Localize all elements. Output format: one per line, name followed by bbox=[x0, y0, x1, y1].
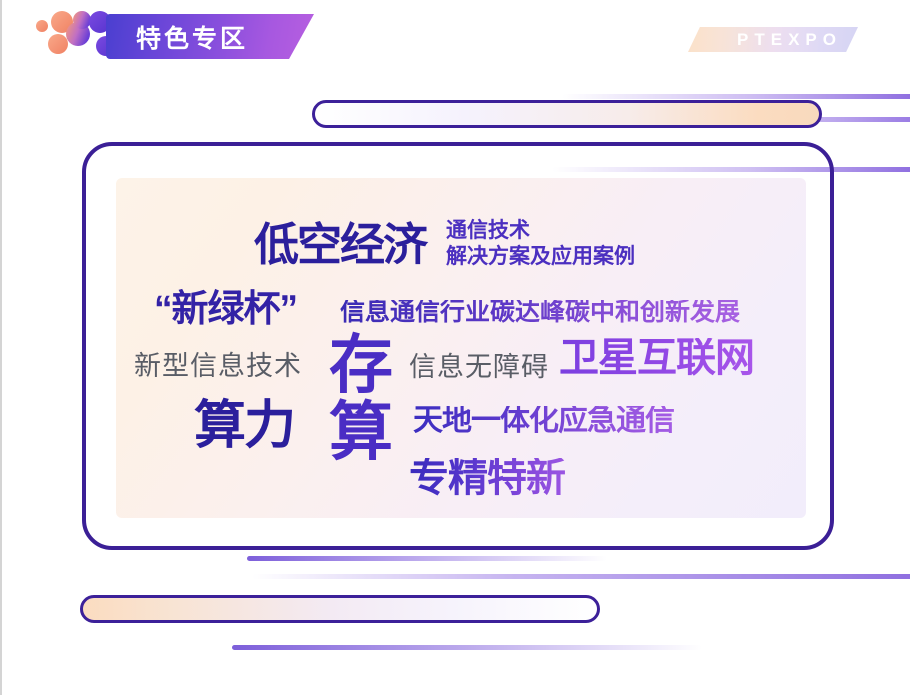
page-header: 特色专区 PTEXPO bbox=[2, 0, 910, 80]
section-banner: 特色专区 bbox=[106, 14, 314, 59]
decorative-streak bbox=[562, 94, 910, 99]
wordcloud-term-suan[interactable]: 算 bbox=[329, 400, 393, 464]
wordcloud-term-jiejuefangan[interactable]: 解决方案及应用案例 bbox=[446, 246, 635, 267]
decorative-streak bbox=[552, 167, 910, 172]
decorative-streak bbox=[247, 556, 607, 561]
wordcloud-term-xinxitongxin[interactable]: 信息通信行业碳达峰碳中和创新发展 bbox=[340, 300, 740, 325]
section-banner-label: 特色专区 bbox=[136, 19, 248, 55]
wordcloud-term-suanli[interactable]: 算力 bbox=[194, 400, 294, 452]
ptexpo-watermark: PTEXPO bbox=[688, 27, 858, 52]
wordcloud-term-dikongjingji[interactable]: 低空经济 bbox=[254, 222, 426, 267]
decorative-streak bbox=[252, 574, 910, 579]
wordcloud-term-xinlvbei[interactable]: “新绿杯” bbox=[154, 290, 297, 327]
decorative-pill-bar-bottom bbox=[80, 595, 600, 623]
wordcloud: 低空经济 通信技术 解决方案及应用案例 “新绿杯” 信息通信行业碳达峰碳中和创新… bbox=[116, 178, 806, 518]
wordcloud-term-tongxinjishu[interactable]: 通信技术 bbox=[446, 220, 530, 241]
wordcloud-term-xinxingxinxijishu[interactable]: 新型信息技术 bbox=[134, 353, 302, 380]
wordcloud-term-cun[interactable]: 存 bbox=[329, 333, 393, 397]
wordcloud-term-tiandiyitihua[interactable]: 天地一体化应急通信 bbox=[413, 406, 674, 436]
wordcloud-term-zhuanjingtexin[interactable]: 专精特新 bbox=[409, 458, 565, 498]
ptexpo-watermark-label: PTEXPO bbox=[737, 30, 842, 50]
slide-page: 特色专区 PTEXPO 低空经济 通信技术 解决方案及应用案例 “新绿杯” 信息… bbox=[0, 0, 910, 695]
decorative-pill-bar-top bbox=[312, 100, 822, 128]
wordcloud-term-xinxiwuzhangai[interactable]: 信息无障碍 bbox=[409, 354, 549, 381]
wordcloud-term-weixinghulianwang[interactable]: 卫星互联网 bbox=[559, 338, 754, 378]
decorative-streak bbox=[232, 645, 702, 650]
